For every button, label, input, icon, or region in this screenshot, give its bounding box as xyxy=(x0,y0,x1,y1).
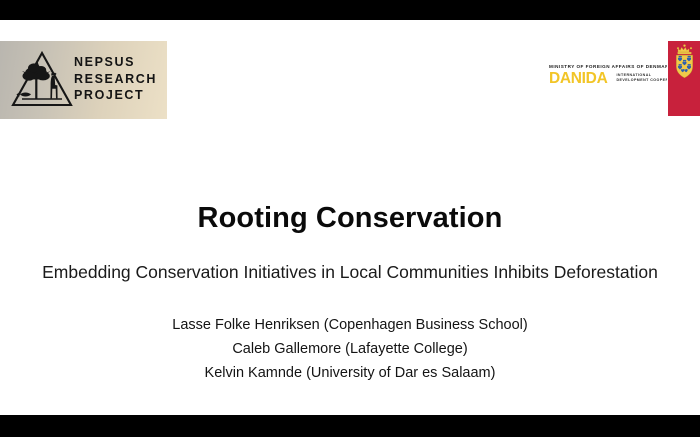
letterbox-bar-bottom xyxy=(0,415,700,437)
author-line: Kelvin Kamnde (University of Dar es Sala… xyxy=(0,361,700,385)
author-line: Caleb Gallemore (Lafayette College) xyxy=(0,337,700,361)
danida-logo: MINISTRY OF FOREIGN AFFAIRS OF DENMARK D… xyxy=(549,64,661,86)
danida-ministry-label: MINISTRY OF FOREIGN AFFAIRS OF DENMARK xyxy=(549,64,661,69)
slide-title: Rooting Conservation xyxy=(0,202,700,235)
author-line: Lasse Folke Henriksen (Copenhagen Busine… xyxy=(0,313,700,337)
denmark-coat-of-arms-banner xyxy=(667,41,700,116)
nepsus-wordmark-line-3: PROJECT xyxy=(74,87,164,104)
nepsus-logo-banner: NEPSUS RESEARCH PROJECT xyxy=(0,41,167,119)
author-list: Lasse Folke Henriksen (Copenhagen Busine… xyxy=(0,313,700,385)
slide-subtitle: Embedding Conservation Initiatives in Lo… xyxy=(0,262,700,283)
presentation-slide: NEPSUS RESEARCH PROJECT MINISTRY OF FORE… xyxy=(0,0,700,437)
nepsus-triangle-emblem-icon xyxy=(10,49,74,111)
letterbox-bar-top xyxy=(0,0,700,20)
nepsus-wordmark-line-2: RESEARCH xyxy=(74,71,164,88)
nepsus-wordmark: NEPSUS RESEARCH PROJECT xyxy=(74,54,164,104)
nepsus-wordmark-line-1: NEPSUS xyxy=(74,54,164,71)
danish-coat-of-arms-icon xyxy=(672,44,697,84)
danida-wordmark: DANIDA xyxy=(549,71,607,86)
slide-canvas: NEPSUS RESEARCH PROJECT MINISTRY OF FORE… xyxy=(0,20,700,415)
